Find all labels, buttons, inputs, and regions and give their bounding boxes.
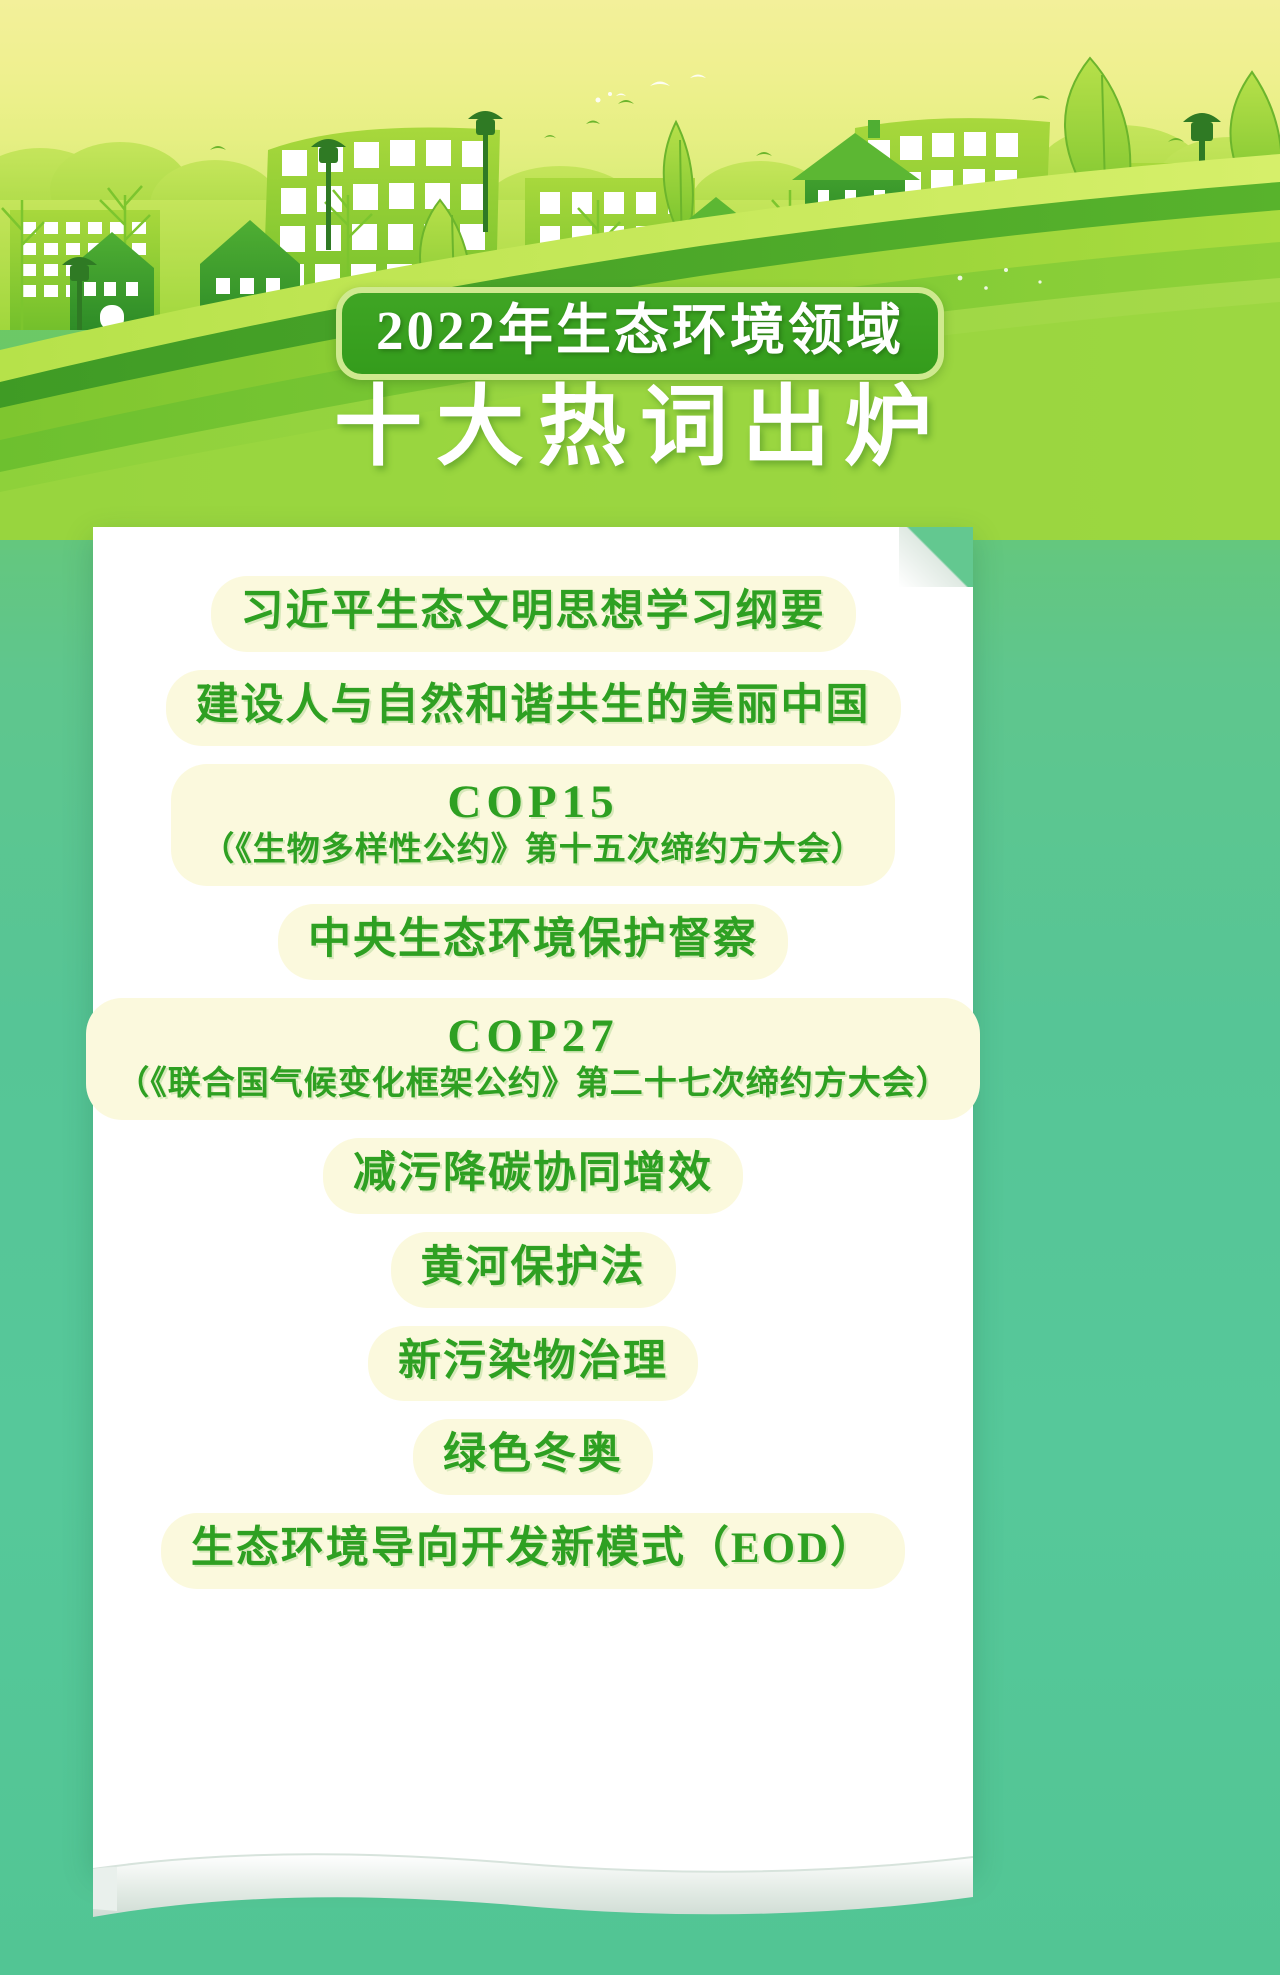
keyword-item[interactable]: 中央生态环境保护督察 bbox=[278, 904, 788, 980]
keyword-list: 习近平生态文明思想学习纲要建设人与自然和谐共生的美丽中国COP15（《生物多样性… bbox=[93, 567, 973, 1598]
keyword-title: 新污染物治理 bbox=[398, 1337, 668, 1387]
keyword-card: 习近平生态文明思想学习纲要建设人与自然和谐共生的美丽中国COP15（《生物多样性… bbox=[93, 527, 973, 1867]
bird-icon bbox=[596, 75, 707, 103]
subtitle-text: 2022年生态环境领域 bbox=[376, 303, 904, 358]
keyword-title: 生态环境导向开发新模式（EOD） bbox=[191, 1524, 875, 1574]
paper-curl-icon bbox=[93, 1827, 973, 1945]
keyword-item[interactable]: 减污降碳协同增效 bbox=[323, 1138, 743, 1214]
keyword-title: 减污降碳协同增效 bbox=[353, 1149, 713, 1199]
keyword-item[interactable]: 绿色冬奥 bbox=[413, 1419, 653, 1495]
keyword-item[interactable]: COP27（《联合国气候变化框架公约》第二十七次缔约方大会） bbox=[86, 998, 980, 1120]
keyword-item[interactable]: 新污染物治理 bbox=[368, 1326, 698, 1402]
keyword-title: 绿色冬奥 bbox=[443, 1430, 623, 1480]
keyword-item[interactable]: COP15（《生物多样性公约》第十五次缔约方大会） bbox=[171, 764, 895, 886]
keyword-item[interactable]: 黄河保护法 bbox=[391, 1232, 676, 1308]
keyword-item[interactable]: 建设人与自然和谐共生的美丽中国 bbox=[166, 670, 901, 746]
keyword-title: COP15 bbox=[201, 775, 865, 830]
card-bottom-curl bbox=[93, 1827, 973, 1945]
keyword-title: 中央生态环境保护督察 bbox=[308, 915, 758, 965]
subtitle-badge: 2022年生态环境领域 bbox=[336, 287, 944, 380]
keyword-title: 建设人与自然和谐共生的美丽中国 bbox=[196, 681, 871, 731]
keyword-title: 黄河保护法 bbox=[421, 1243, 646, 1293]
keyword-title: 习近平生态文明思想学习纲要 bbox=[241, 587, 826, 637]
keyword-subtitle: （《联合国气候变化框架公约》第二十七次缔约方大会） bbox=[116, 1065, 950, 1105]
poster-root: 2022年生态环境领域 十大热词出炉 习近平生态文明思想学习纲要建设人与自然和谐… bbox=[0, 0, 1280, 1975]
keyword-title: COP27 bbox=[116, 1009, 950, 1064]
keyword-item[interactable]: 习近平生态文明思想学习纲要 bbox=[211, 576, 856, 652]
keyword-item[interactable]: 生态环境导向开发新模式（EOD） bbox=[161, 1513, 905, 1589]
keyword-subtitle: （《生物多样性公约》第十五次缔约方大会） bbox=[201, 831, 865, 871]
page-title: 十大热词出炉 bbox=[334, 385, 946, 473]
